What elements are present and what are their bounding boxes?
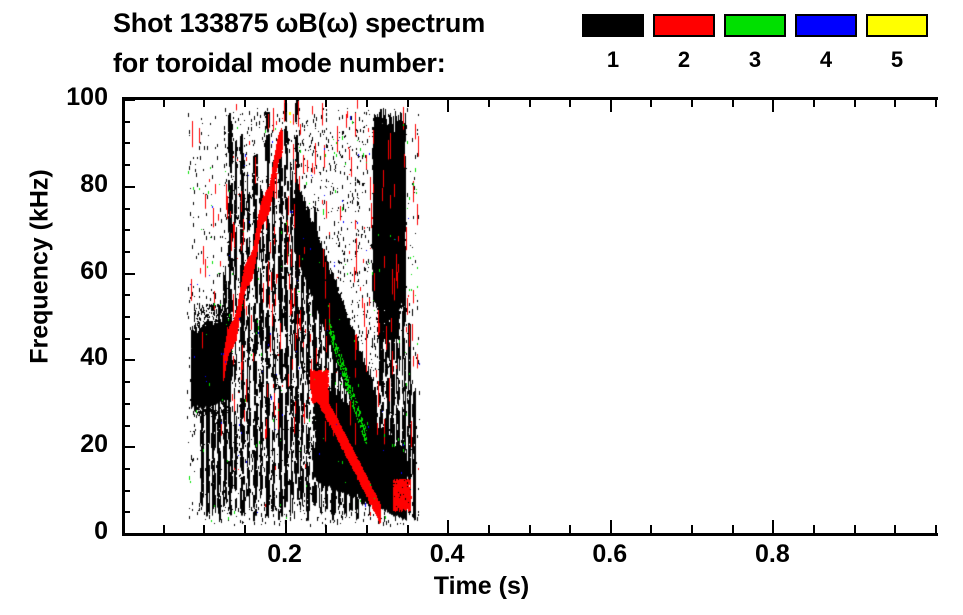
y-tick: [122, 99, 135, 101]
x-tick-label-0.6: 0.6: [565, 540, 655, 569]
y-tick: [122, 511, 130, 513]
x-tick-top: [447, 99, 449, 112]
y-tick: [122, 164, 130, 166]
legend-label-3: 3: [724, 49, 786, 71]
y-tick-label-100: 100: [38, 83, 108, 112]
x-tick-label-0.4: 0.4: [402, 540, 492, 569]
x-tick-label-0.2: 0.2: [240, 540, 330, 569]
x-tick-top: [325, 99, 327, 107]
x-tick-top: [366, 99, 368, 107]
legend-entry-5: 5: [866, 14, 928, 71]
x-tick: [894, 525, 896, 533]
x-tick: [285, 520, 287, 533]
x-tick-top: [163, 99, 165, 107]
y-tick: [122, 468, 130, 470]
x-tick-top: [285, 99, 287, 112]
legend-swatch-3: [724, 14, 786, 37]
y-tick: [122, 381, 130, 383]
x-tick-label-0.8: 0.8: [727, 540, 817, 569]
x-tick-top: [407, 99, 409, 107]
x-tick-top: [854, 99, 856, 107]
y-tick: [122, 186, 135, 188]
x-tick: [813, 525, 815, 533]
y-tick: [122, 251, 130, 253]
x-tick-top: [732, 99, 734, 107]
y-tick: [122, 446, 135, 448]
x-tick-top: [772, 99, 774, 112]
x-tick: [854, 525, 856, 533]
legend-label-1: 1: [582, 49, 644, 71]
legend-swatch-2: [653, 14, 715, 37]
x-tick-top: [610, 99, 612, 112]
x-tick-top: [935, 99, 937, 107]
y-axis-title: Frequency (kHz): [26, 137, 55, 397]
legend: 12345: [582, 14, 927, 88]
x-tick-top: [650, 99, 652, 107]
y-tick: [122, 142, 130, 144]
x-tick-top: [569, 99, 571, 107]
x-tick-top: [894, 99, 896, 107]
legend-entry-1: 1: [582, 14, 644, 71]
x-tick: [447, 520, 449, 533]
x-tick: [122, 525, 124, 533]
spectrogram-plot-area: [123, 100, 935, 533]
x-tick-top: [488, 99, 490, 107]
figure-title-line-1: Shot 133875 ωB(ω) spectrum: [113, 8, 485, 39]
legend-entry-3: 3: [724, 14, 786, 71]
figure-title-line-2: for toroidal mode number:: [113, 48, 446, 79]
x-tick: [529, 525, 531, 533]
x-tick: [935, 525, 937, 533]
y-tick: [122, 533, 135, 535]
legend-entry-2: 2: [653, 14, 715, 71]
x-tick: [772, 520, 774, 533]
x-tick-top: [691, 99, 693, 107]
y-tick: [122, 338, 130, 340]
x-tick: [203, 525, 205, 533]
x-tick: [732, 525, 734, 533]
x-tick: [366, 525, 368, 533]
x-tick-top: [203, 99, 205, 107]
legend-label-2: 2: [653, 49, 715, 71]
x-axis-title: Time (s): [0, 572, 963, 601]
x-tick-top: [529, 99, 531, 107]
y-tick: [122, 229, 130, 231]
legend-swatch-5: [866, 14, 928, 37]
x-tick: [325, 525, 327, 533]
x-tick: [407, 525, 409, 533]
x-tick: [488, 525, 490, 533]
y-tick-label-20: 20: [38, 430, 108, 459]
spectrogram-figure: Shot 133875 ωB(ω) spectrum for toroidal …: [0, 0, 963, 615]
y-tick: [122, 208, 130, 210]
x-tick: [691, 525, 693, 533]
legend-entry-4: 4: [795, 14, 857, 71]
y-tick: [122, 294, 130, 296]
x-tick-top: [813, 99, 815, 107]
legend-label-4: 4: [795, 49, 857, 71]
y-tick: [122, 359, 135, 361]
y-tick: [122, 425, 130, 427]
x-tick-top: [244, 99, 246, 107]
x-tick: [163, 525, 165, 533]
y-tick: [122, 403, 130, 405]
x-tick: [244, 525, 246, 533]
y-tick: [122, 490, 130, 492]
y-tick: [122, 273, 135, 275]
x-tick: [610, 520, 612, 533]
y-tick-label-0: 0: [38, 517, 108, 546]
y-tick: [122, 121, 130, 123]
legend-swatch-1: [582, 14, 644, 37]
legend-swatch-4: [795, 14, 857, 37]
legend-label-5: 5: [866, 49, 928, 71]
x-tick: [650, 525, 652, 533]
x-tick: [569, 525, 571, 533]
y-tick: [122, 316, 130, 318]
